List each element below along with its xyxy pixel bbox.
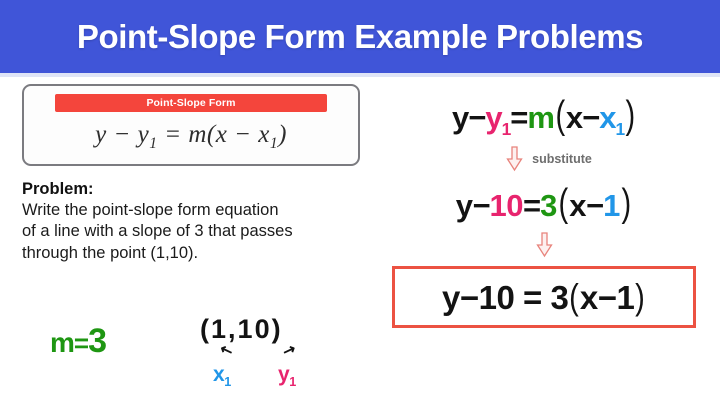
y1-label: y1 [278,363,296,389]
substitute-arrow-row: substitute [372,144,716,174]
formula-minus-2: − [234,121,251,148]
point-annotation-group: (1,10) ↖ ↖ x1 y1 [200,314,350,391]
ans-close-paren: ) [636,276,645,318]
gen-y1-sub: 1 [502,119,511,139]
ans-minus-10: −10 [460,279,514,316]
formula-banner: Point-Slope Form [55,94,327,112]
gen-minus-1: − [468,100,485,135]
result-arrow-row [372,230,716,260]
gen-open-paren: ( [555,94,564,138]
final-answer-equation: y−10 = 3(x−1) [442,276,646,318]
problem-line-2: of a line with a slope of 3 that passes [22,221,362,242]
sub-x: x [569,188,586,223]
ans-equals: = [523,279,542,316]
formula-rhs-var: x [216,121,228,148]
formula-close-paren: ) [278,121,287,148]
substituted-equation: y−10=3(x−1) [372,182,716,226]
formula-equals: = [164,121,181,148]
gen-y1: y [485,100,501,135]
point-close-paren: ) [272,314,283,344]
y1-label-var: y [278,363,289,386]
ans-minus-2: − [598,279,617,316]
gen-x1: x [599,100,615,135]
sub-x-value: 1 [603,188,620,223]
formula-minus-1: − [113,121,130,148]
gen-m: m [527,100,554,135]
ans-x-value: 1 [617,279,635,316]
gen-close-paren: ) [626,94,635,138]
sub-close-paren: ) [621,182,630,226]
formula-banner-label: Point-Slope Form [146,97,235,109]
sub-y-value: 10 [490,188,523,223]
sub-equals: = [523,188,540,223]
formula-lhs-var: y [95,121,107,148]
x1-label: x1 [213,363,231,389]
final-answer-box: y−10 = 3(x−1) [392,266,696,328]
ans-slope: 3 [550,279,568,316]
page-title: Point-Slope Form Example Problems [77,18,643,56]
gen-x1-sub: 1 [615,119,624,139]
formula-rhs-sub-index: 1 [270,135,278,152]
formula-rhs-sub-var: x [258,121,270,148]
sub-slope: 3 [540,188,557,223]
sub-minus-2: − [586,188,603,223]
gen-x: x [566,100,582,135]
x1-label-var: x [213,363,224,386]
given-values-row: m=3 (1,10) ↖ ↖ x1 y1 [22,306,367,396]
general-equation: y−y1=m(x−x1) [372,94,716,140]
point-slope-formula: y − y1 = m(x − x1) [24,121,358,153]
header-underline [0,73,720,77]
slope-variable: m [50,327,74,358]
slope-equals: = [74,328,88,358]
formula-lhs-sub-var: y [138,121,150,148]
sub-open-paren: ( [558,182,567,226]
formula-reference-card: Point-Slope Form y − y1 = m(x − x1) [22,84,360,166]
formula-lhs-sub-index: 1 [149,135,157,152]
right-column-solution: y−y1=m(x−x1) substitute y−10=3(x−1) y−10… [372,84,716,394]
problem-statement: Problem: Write the point-slope form equa… [22,180,362,264]
down-arrow-icon [506,146,523,172]
page-header: Point-Slope Form Example Problems [0,0,720,73]
ans-x: x [580,279,598,316]
sub-y: y [456,188,473,223]
gen-equals: = [510,100,527,135]
formula-slope-var: m [188,121,207,148]
ans-y: y [442,279,460,316]
left-column: Point-Slope Form y − y1 = m(x − x1) Prob… [22,84,367,394]
ans-open-paren: ( [569,276,578,318]
substitute-label: substitute [532,152,592,166]
point-arrow-row: ↖ ↖ [200,345,350,361]
slope-annotation: m=3 [50,322,106,361]
slope-number: 3 [88,322,106,360]
formula-open-paren: ( [207,121,216,148]
point-label-row: x1 y1 [200,363,350,391]
problem-line-1: Write the point-slope form equation [22,200,362,221]
x1-label-sub: 1 [224,375,231,389]
problem-heading: Problem: [22,180,362,199]
point-y-value: 10 [238,314,272,344]
problem-line-3: through the point (1,10). [22,243,362,264]
point-coordinate-pair: (1,10) [200,314,350,345]
point-open-paren: ( [200,314,211,344]
y1-label-sub: 1 [289,375,296,389]
sub-minus-1: − [472,188,489,223]
down-arrow-icon [536,232,553,258]
gen-minus-2: − [582,100,599,135]
gen-y: y [452,100,468,135]
